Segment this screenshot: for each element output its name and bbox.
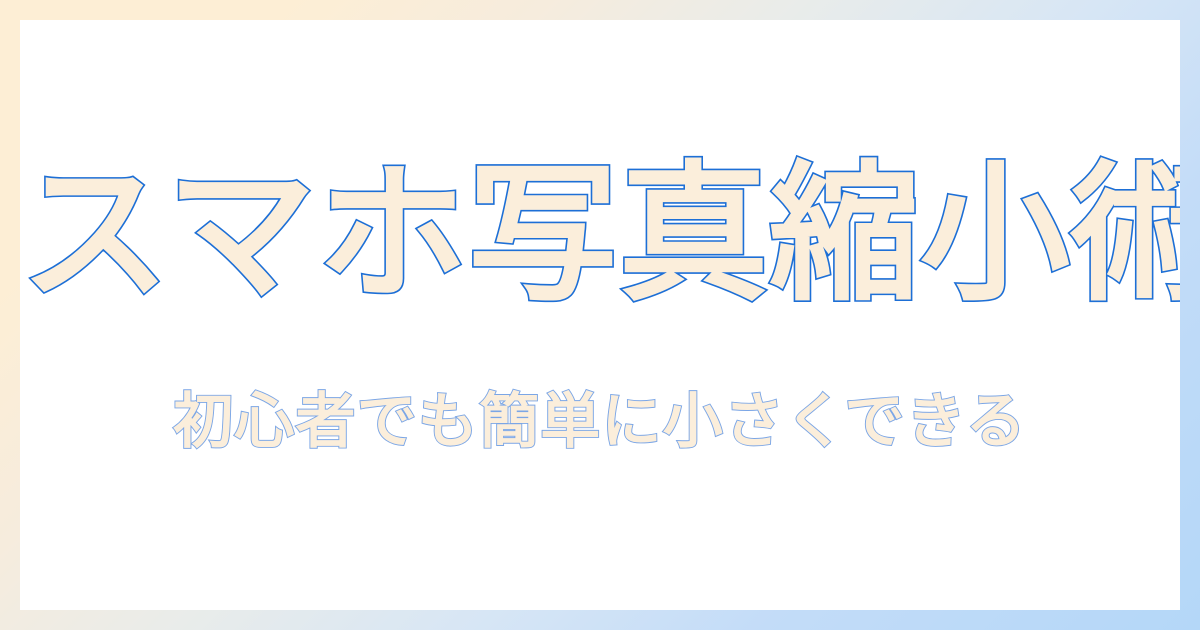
title-block: スマホ写真縮小術 — [20, 160, 1180, 310]
poster-canvas: スマホ写真縮小術 初心者でも簡単に小さくできる — [0, 0, 1200, 630]
page-title: スマホ写真縮小術 — [20, 160, 1180, 310]
poster-card: スマホ写真縮小術 初心者でも簡単に小さくできる — [20, 20, 1180, 610]
page-subtitle: 初心者でも簡単に小さくできる — [173, 392, 1027, 452]
subtitle-block: 初心者でも簡単に小さくできる — [20, 392, 1180, 452]
